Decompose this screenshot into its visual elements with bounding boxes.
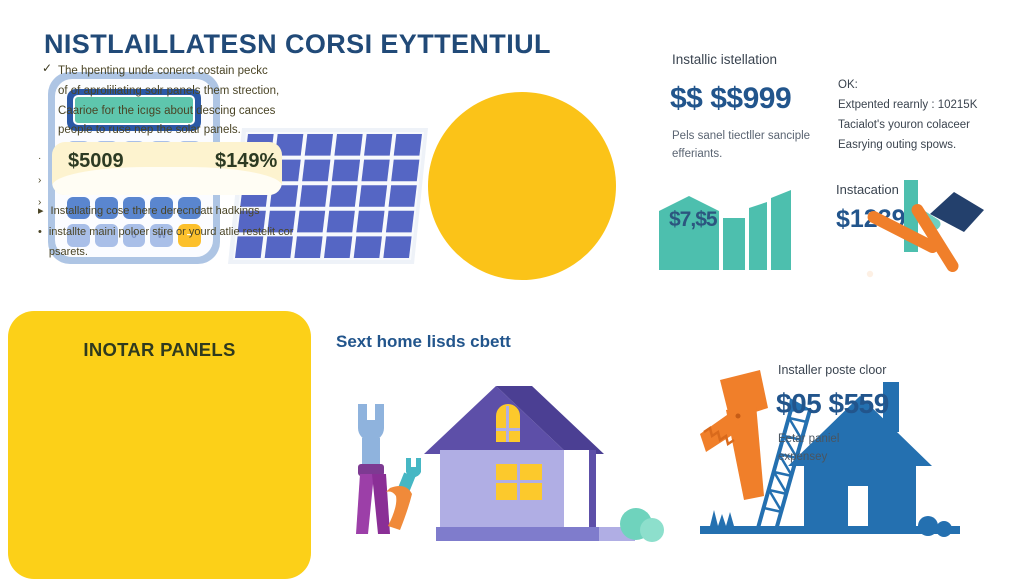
yellow-panel-body: The hpenting unde conerct costain peckc … (58, 62, 280, 141)
yellow-panel-price-left: $5009 (68, 150, 124, 173)
solar-cell (332, 160, 360, 182)
list-marker-icon: ▸ (38, 202, 44, 221)
yellow-panel-list: ▸Installating cose there derecndatt hadk… (38, 202, 296, 264)
bottom-right-heading: Installer poste cloor (778, 363, 886, 377)
list-marker-icon: • (38, 223, 42, 262)
solar-cell (354, 236, 382, 258)
solar-cell (329, 185, 357, 207)
top-right-note-line: Extpented rearnly : 10215K (838, 95, 1023, 115)
solar-cell (364, 134, 392, 156)
solar-cell (359, 185, 387, 207)
solar-cell (361, 160, 389, 182)
yellow-panel-list-item: ▸Installating cose there derecndatt hadk… (38, 202, 296, 221)
yellow-info-panel: INOTAR PANELS (8, 311, 311, 579)
list-item-text: installte maini poloer stire or yourd at… (49, 223, 296, 262)
top-right-price: $$ $$999 (670, 82, 791, 116)
tools-illustration-mid (858, 180, 998, 285)
solar-cell (324, 236, 352, 258)
orange-hammer-icon (700, 370, 768, 500)
yellow-panel-title: INOTAR PANELS (8, 339, 311, 361)
page-title: NISTLAILLATESN CORSI EYTTENTIUL (44, 29, 551, 60)
solar-cell (394, 134, 422, 156)
top-right-subtext: Pels sanel tiectller sanciple efferiants… (672, 128, 822, 164)
solar-cell (391, 160, 419, 182)
top-right-note-line: Tacialot's youron colaceer (838, 115, 1023, 135)
solar-cell (300, 185, 328, 207)
solar-cell (327, 211, 355, 233)
solar-cell (297, 211, 325, 233)
solar-cell (389, 185, 417, 207)
yellow-panel-dot: › (38, 170, 41, 192)
bottom-right-price: $05 $559 (776, 388, 889, 420)
top-right-note-line: Easrying outing spows. (838, 135, 1023, 155)
bar-chart-money-label: $7,$5 (669, 208, 717, 232)
yellow-panel-dot: · (38, 148, 41, 170)
infographic-canvas: NISTLAILLATESN CORSI EYTTENTIUL 1<+1123←… (0, 0, 1024, 585)
sun-illustration (428, 92, 616, 280)
check-icon: ✓ (42, 61, 52, 75)
tools-illustration-left (344, 392, 454, 542)
top-right-note-line: OK: (838, 75, 1023, 95)
solar-cell (383, 236, 411, 258)
bar-chart-illustration: $7,$5 (655, 178, 800, 273)
mid-bottom-heading: Sext home lisds cbett (336, 332, 511, 352)
solar-cell (386, 211, 414, 233)
bottom-right-subtext: Eetar paniel expensey (778, 430, 868, 467)
yellow-panel-price-right: $149% (215, 150, 277, 173)
solar-cell (334, 134, 362, 156)
wrench-icon (358, 404, 384, 466)
list-item-text: Installating cose there derecndatt hadki… (51, 202, 260, 221)
top-right-heading: Installic istellation (672, 52, 777, 67)
top-right-notes: OK:Extpented rearnly : 10215KTacialot's … (838, 75, 1023, 156)
solar-cell (302, 160, 330, 182)
solar-cell (305, 134, 333, 156)
solar-cell (294, 236, 322, 258)
yellow-panel-list-item: •installte maini poloer stire or yourd a… (38, 223, 296, 262)
solar-cell (356, 211, 384, 233)
